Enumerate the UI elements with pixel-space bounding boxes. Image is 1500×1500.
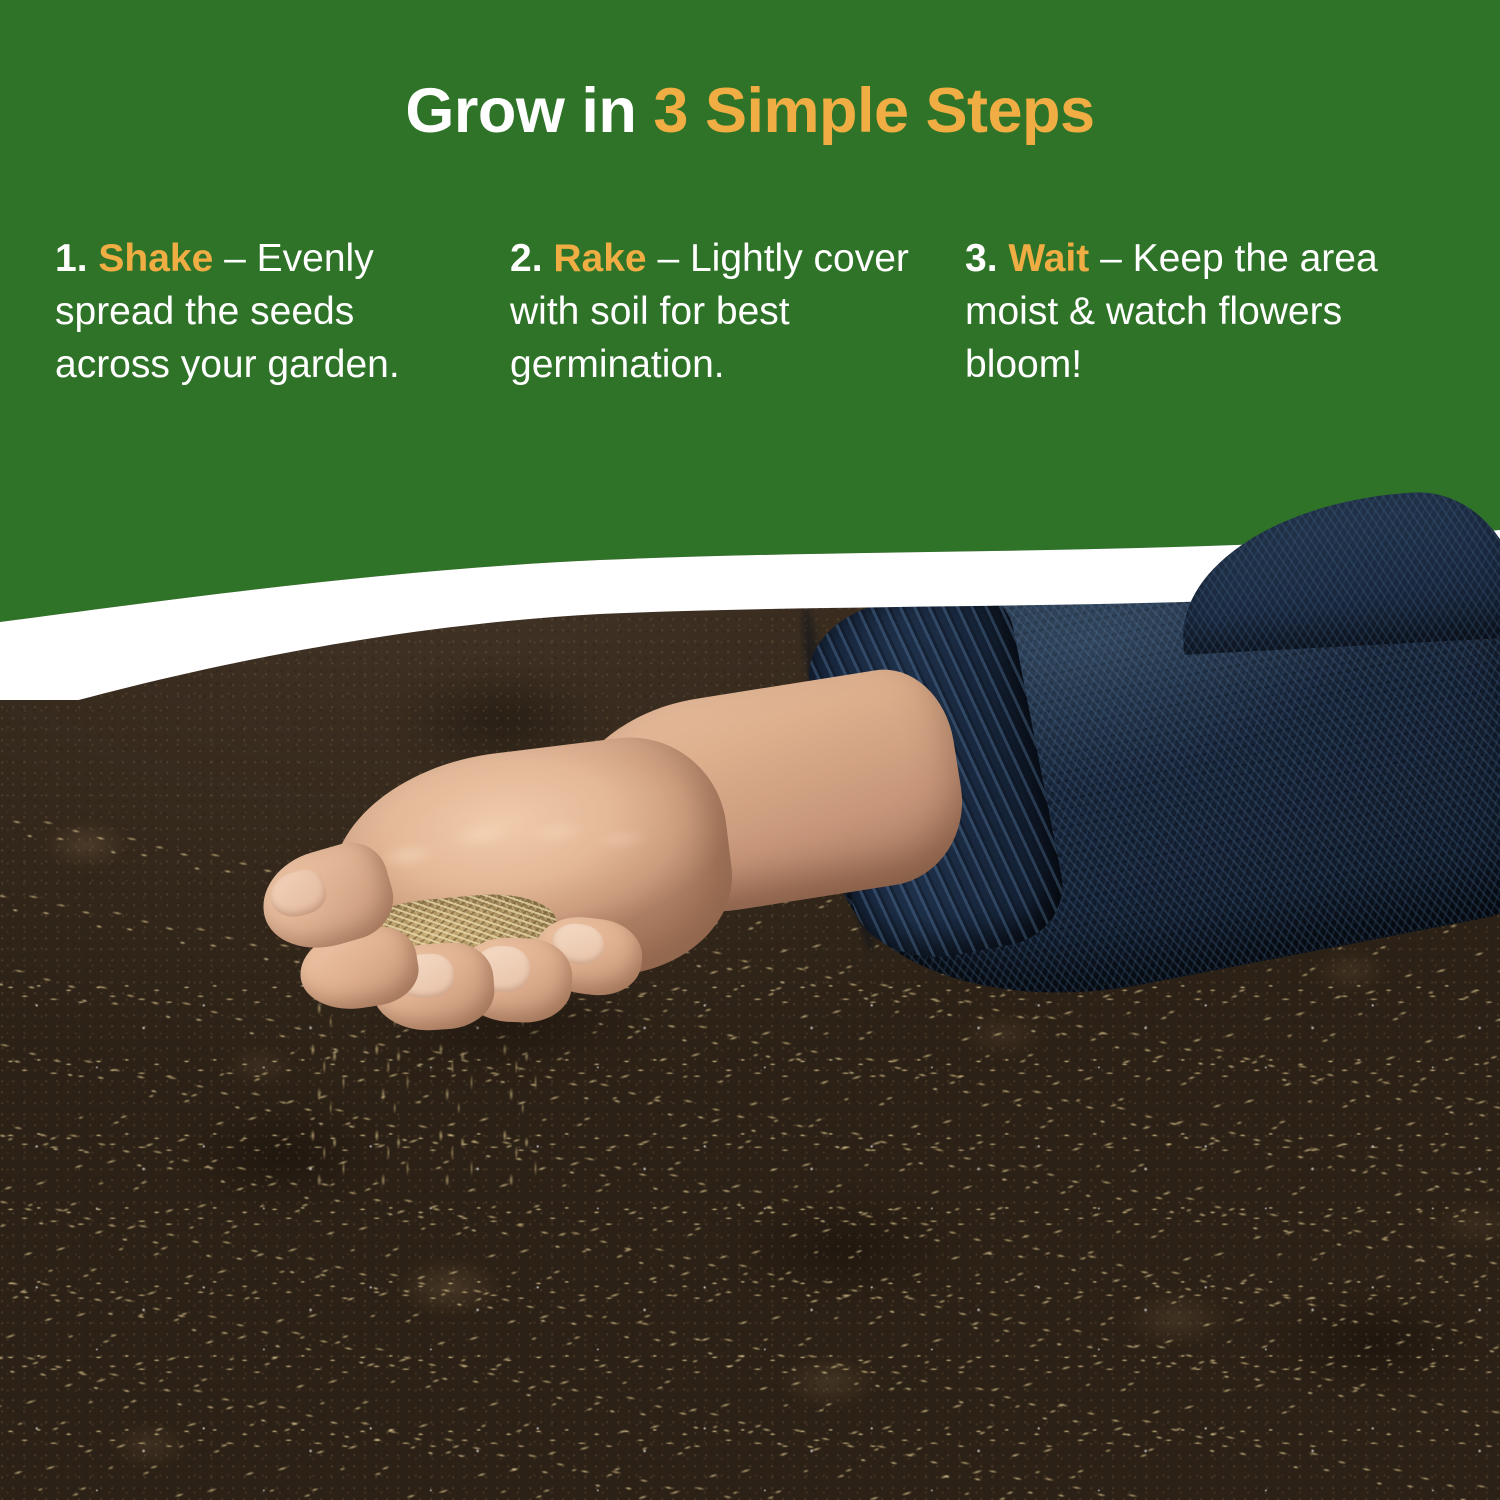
step-item-3: 3. Wait – Keep the area moist & watch fl… <box>965 232 1455 391</box>
step-3-title: Wait <box>1008 237 1089 280</box>
header-text-content: Grow in 3 Simple Steps 1. Shake – Evenly… <box>0 0 1500 520</box>
infographic-canvas: Grow in 3 Simple Steps 1. Shake – Evenly… <box>0 0 1500 1500</box>
page-title: Grow in 3 Simple Steps <box>0 78 1500 145</box>
step-1-title: Shake <box>98 237 213 280</box>
step-3-number: 3. <box>965 237 998 280</box>
steps-list: 1. Shake – Evenly spread the seeds acros… <box>55 232 1455 391</box>
step-item-2: 2. Rake – Lightly cover with soil for be… <box>510 232 965 391</box>
step-2-title: Rake <box>553 237 646 280</box>
step-item-1: 1. Shake – Evenly spread the seeds acros… <box>55 232 510 391</box>
headline-part-white: Grow in <box>405 76 653 146</box>
step-1-number: 1. <box>55 237 88 280</box>
step-2-number: 2. <box>510 237 543 280</box>
headline-part-accent: 3 Simple Steps <box>653 76 1094 146</box>
